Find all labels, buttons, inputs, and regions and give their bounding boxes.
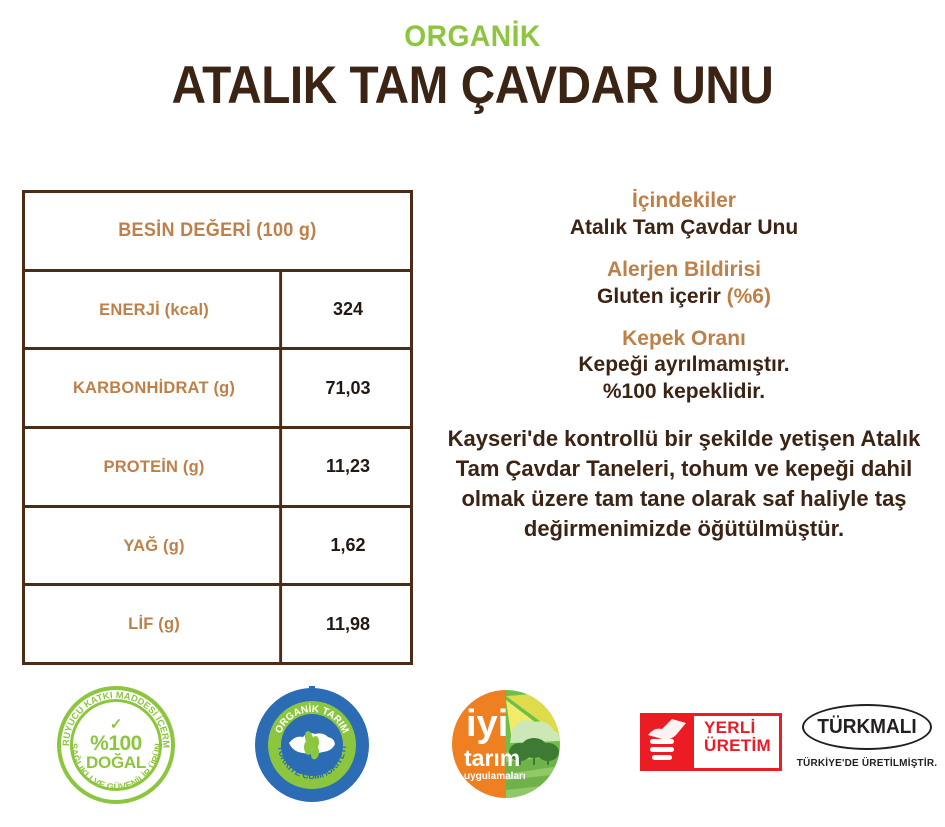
page-header: ORGANİK ATALIK TAM ÇAVDAR UNU xyxy=(0,0,945,114)
allergen-value: Gluten içerir xyxy=(597,285,721,308)
allergen-heading: Alerjen Bildirisi xyxy=(428,257,940,284)
handshake-icon xyxy=(640,713,694,771)
organik-tarim-svg: ORGANİK TARIM TÜRKİYE CUMHURİYETİ xyxy=(253,686,371,804)
yerli-line-1: YERLİ xyxy=(704,719,771,737)
badge-sub-text: DOĞAL xyxy=(57,754,175,771)
row-value: 11,98 xyxy=(286,586,410,662)
table-row: LİF (g) 11,98 xyxy=(25,586,410,662)
row-label: PROTEİN (g) xyxy=(29,429,282,505)
ingredients-block: İçindekiler Atalık Tam Çavdar Unu xyxy=(428,188,940,242)
bran-line-1: Kepeği ayrılmamıştır. xyxy=(428,352,940,379)
product-label-page: ORGANİK ATALIK TAM ÇAVDAR UNU BESİN DEĞE… xyxy=(0,0,945,827)
ingredients-value: Atalık Tam Çavdar Unu xyxy=(428,215,940,242)
iyi-text: iyi xyxy=(466,703,508,745)
page-title: ATALIK TAM ÇAVDAR UNU xyxy=(47,58,898,114)
row-value: 11,23 xyxy=(286,429,410,505)
row-label: LİF (g) xyxy=(29,586,282,662)
check-icon: ✓ xyxy=(57,717,175,732)
body-wrap: BESİN DEĞERİ (100 g) ENERJİ (kcal) 324 K… xyxy=(0,180,945,680)
nutrition-table-header: BESİN DEĞERİ (100 g) xyxy=(25,193,410,272)
info-column: İçindekiler Atalık Tam Çavdar Unu Alerje… xyxy=(428,188,940,544)
badge-center-text: ✓ %100 DOĞAL xyxy=(57,717,175,771)
iyi-tarim-svg: iyi tarım uygulamaları xyxy=(452,690,560,798)
turk-mali-text: TÜRKMALI xyxy=(805,704,929,750)
table-row: ENERJİ (kcal) 324 xyxy=(25,272,410,351)
row-value: 1,62 xyxy=(286,508,410,584)
row-label: KARBONHİDRAT (g) xyxy=(29,350,282,426)
iyi-tarim-icon: iyi tarım uygulamaları xyxy=(452,690,560,798)
ingredients-heading: İçindekiler xyxy=(428,188,940,215)
allergen-percent: (%6) xyxy=(727,285,771,308)
yerli-uretim-icon: YERLİ ÜRETİM xyxy=(640,711,782,773)
tarim-text: tarım xyxy=(464,745,520,771)
table-row: YAĞ (g) 1,62 xyxy=(25,508,410,587)
yerli-line-2: ÜRETİM xyxy=(704,737,771,755)
turk-mali-caption: TÜRKİYE'DE ÜRETİLMİŞTİR. xyxy=(792,758,942,769)
bran-block: Kepek Oranı Kepeği ayrılmamıştır. %100 k… xyxy=(428,326,940,407)
table-row: KARBONHİDRAT (g) 71,03 xyxy=(25,350,410,429)
row-value: 324 xyxy=(286,272,410,348)
bran-heading: Kepek Oranı xyxy=(428,326,940,353)
certification-logos: KORUYUCU KATKI MADDESİ İÇERMEZ SAĞLIKLI … xyxy=(0,686,945,811)
allergen-value-line: Gluten içerir (%6) xyxy=(428,284,940,311)
nutrition-table-header-label: BESİN DEĞERİ (100 g) xyxy=(118,220,316,242)
bran-line-2: %100 kepeklidir. xyxy=(428,379,940,406)
organik-tarim-icon: ORGANİK TARIM TÜRKİYE CUMHURİYETİ xyxy=(253,686,371,804)
row-value: 71,03 xyxy=(286,350,410,426)
kicker-organik: ORGANİK xyxy=(28,22,916,52)
handshake-svg xyxy=(640,713,694,771)
nutrition-table: BESİN DEĞERİ (100 g) ENERJİ (kcal) 324 K… xyxy=(22,190,413,665)
row-label: ENERJİ (kcal) xyxy=(29,272,282,348)
product-description: Kayseri'de kontrollü bir şekilde yetişen… xyxy=(428,424,940,544)
row-label: YAĞ (g) xyxy=(29,508,282,584)
yerli-uretim-text: YERLİ ÜRETİM xyxy=(704,719,771,755)
allergen-block: Alerjen Bildirisi Gluten içerir (%6) xyxy=(428,257,940,311)
table-row: PROTEİN (g) 11,23 xyxy=(25,429,410,508)
dogal-badge-icon: KORUYUCU KATKI MADDESİ İÇERMEZ SAĞLIKLI … xyxy=(57,686,175,804)
turk-mali-icon: TÜRKMALI TÜRKİYE'DE ÜRETİLMİŞTİR. xyxy=(792,704,942,784)
badge-main-text: %100 xyxy=(57,733,175,754)
uygulamalari-text: uygulamaları xyxy=(464,771,526,782)
